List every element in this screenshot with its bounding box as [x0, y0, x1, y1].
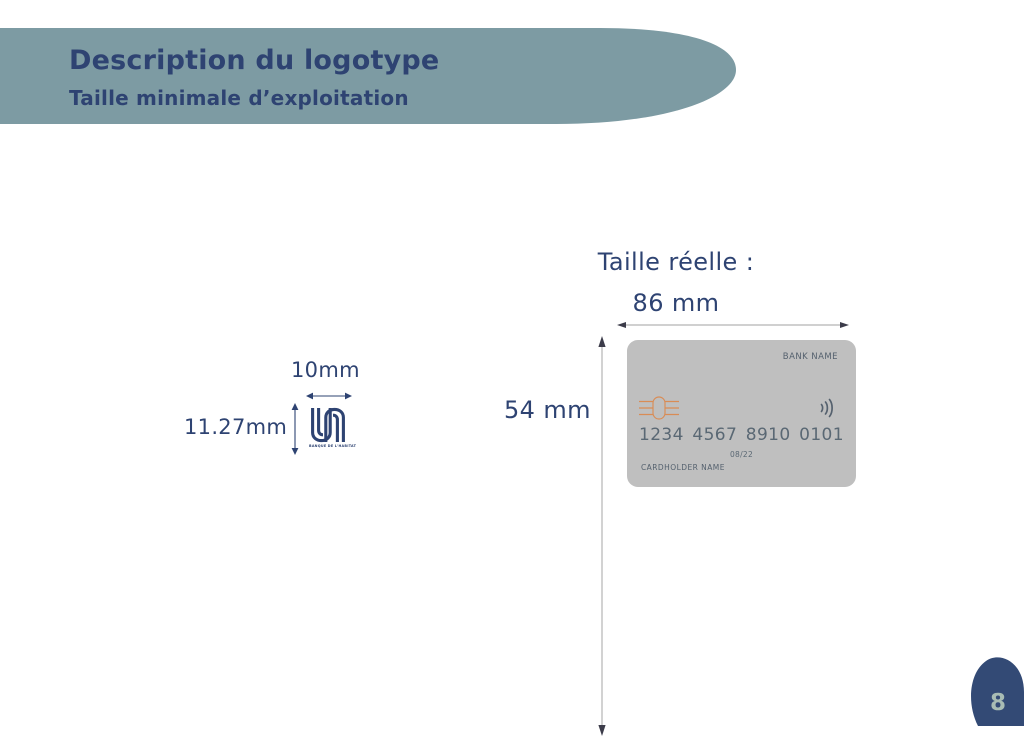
card-number-group: 4567	[692, 425, 737, 445]
card-bank-name: BANK NAME	[783, 352, 838, 362]
minimum-size-group: 10mm 11.27mm BANQUE DE L'HABITAT	[184, 358, 364, 458]
card-height-label: 54 mm	[504, 396, 591, 424]
page-title: Description du logotype	[69, 44, 439, 77]
real-size-group: Taille réelle : 86 mm 54 mm BANK NAME	[495, 248, 895, 498]
bank-card: BANK NAME 1234 4567 8910 0101	[627, 340, 856, 487]
card-width-label: 86 mm	[633, 289, 720, 317]
min-height-label: 11.27mm	[184, 415, 287, 439]
card-number-row: 1234 4567 8910 0101	[639, 425, 844, 445]
min-height-arrow-icon	[289, 403, 301, 455]
min-width-arrow-icon	[306, 390, 352, 402]
logo-tagline: BANQUE DE L'HABITAT	[309, 444, 351, 448]
page-number-blob: 8	[962, 652, 1024, 726]
card-expiry-date: 08/22	[627, 450, 856, 459]
contactless-icon	[818, 396, 836, 420]
page-number: 8	[990, 690, 1006, 716]
card-holder-name: CARDHOLDER NAME	[641, 463, 725, 472]
logo-block: BANQUE DE L'HABITAT	[308, 405, 348, 455]
wn-monogram-logo-icon	[308, 405, 348, 445]
real-size-title: Taille réelle :	[598, 248, 754, 276]
header-text-group: Description du logotype Taille minimale …	[69, 44, 439, 111]
header-banner: Description du logotype Taille minimale …	[0, 28, 736, 124]
emv-chip-icon	[639, 395, 679, 421]
card-height-arrow-icon	[596, 336, 608, 736]
min-width-label: 10mm	[291, 358, 360, 382]
card-number-group: 0101	[799, 425, 844, 445]
card-number-group: 8910	[746, 425, 791, 445]
card-width-arrow-icon	[617, 319, 849, 331]
page-subtitle: Taille minimale d’exploitation	[69, 85, 439, 111]
card-number-group: 1234	[639, 425, 684, 445]
